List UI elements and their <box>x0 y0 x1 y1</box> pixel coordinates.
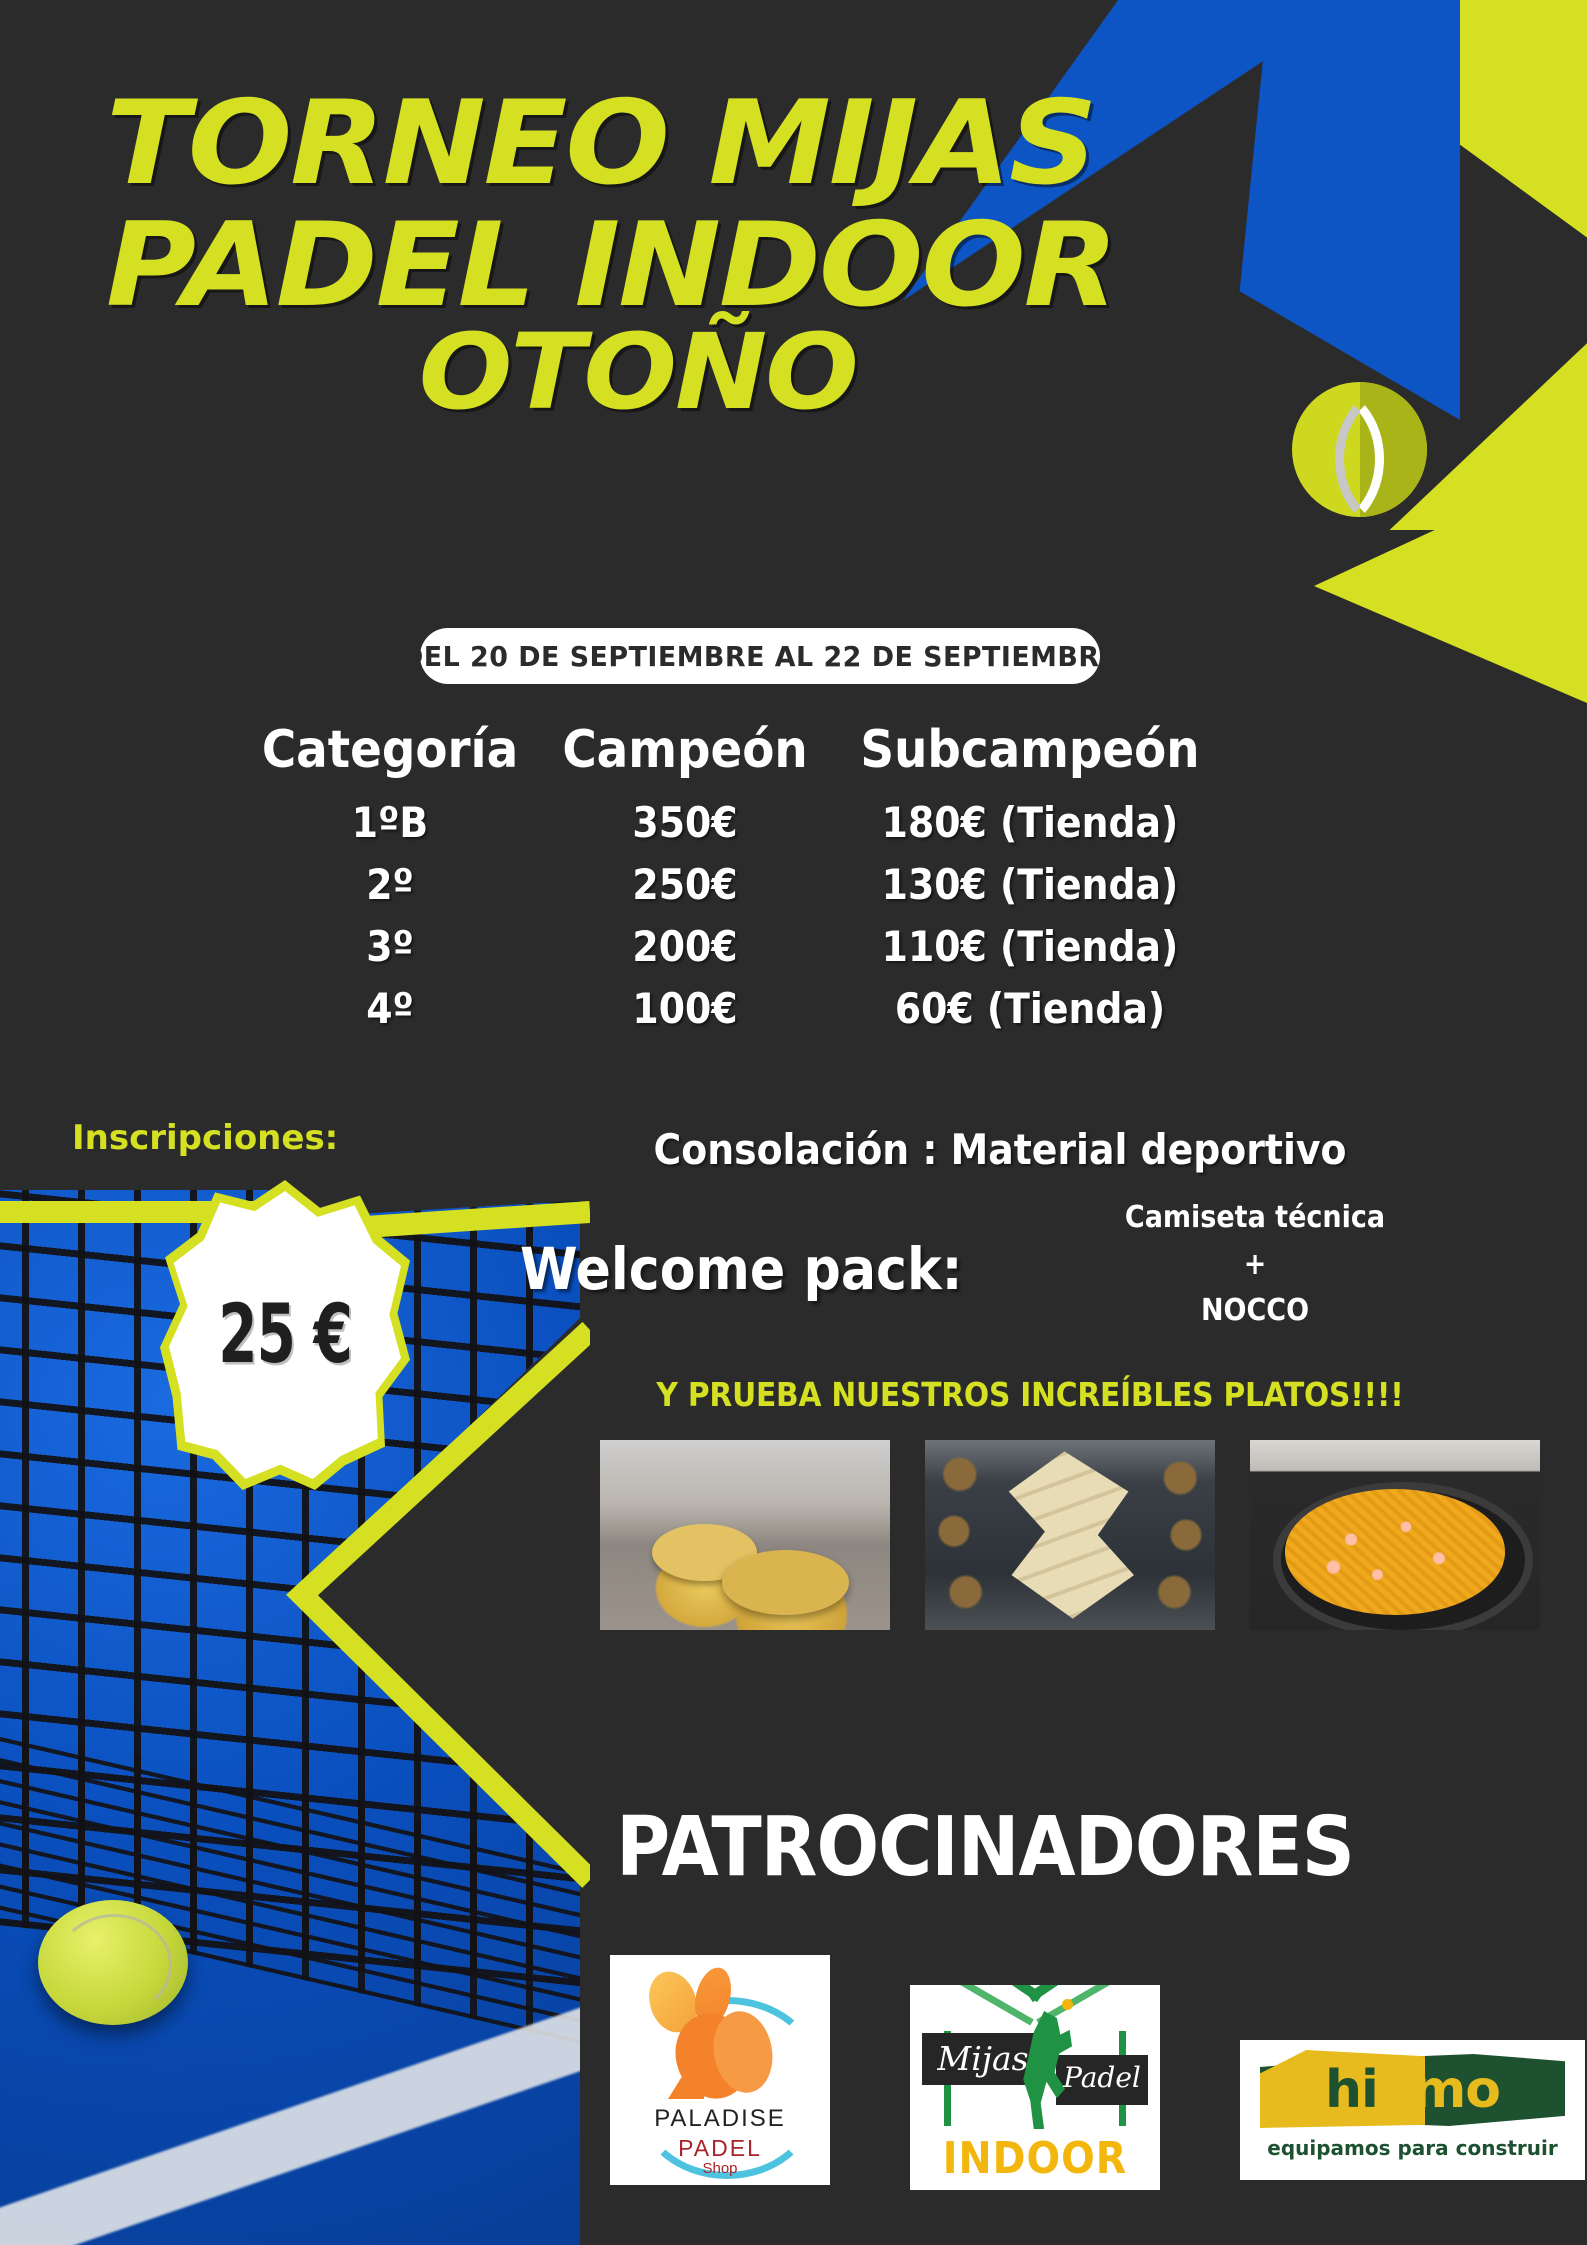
hiemo-part-2: e <box>1378 2060 1412 2120</box>
cell-runnerup: 60€ (Tienda) <box>830 984 1230 1033</box>
cell-category: 4º <box>240 984 540 1033</box>
table-row: 4º 100€ 60€ (Tienda) <box>240 984 1360 1033</box>
cell-category: 2º <box>240 860 540 909</box>
food-headline: Y PRUEBA NUESTROS INCREÍBLES PLATOS!!!! <box>520 1375 1540 1414</box>
indoor-word: INDOOR <box>910 2133 1160 2184</box>
consolation-text: Consolación : Material deportivo <box>520 1125 1480 1174</box>
paella-photo <box>1250 1440 1540 1630</box>
title-line-1: TORNEO MIJAS <box>0 90 1399 198</box>
paladise-shop: Shop <box>610 2160 830 2177</box>
prize-table: Categoría Campeón Subcampeón 1ºB 350€ 18… <box>240 720 1360 1046</box>
cell-runnerup: 110€ (Tienda) <box>830 922 1230 971</box>
tortilla-photo <box>600 1440 890 1630</box>
sponsors-title: PATROCINADORES <box>480 1800 1490 1895</box>
mijas-word: Mijas <box>928 2039 1038 2078</box>
registration-price: 25 € <box>218 1288 352 1383</box>
cell-runnerup: 130€ (Tienda) <box>830 860 1230 909</box>
date-banner: DEL 20 DE SEPTIEMBRE AL 22 DE SEPTIEMBRE <box>420 628 1100 684</box>
welcome-pack-label: Welcome pack: <box>520 1235 963 1303</box>
logo-ball-icon <box>1062 1999 1073 2010</box>
page-title: TORNEO MIJAS PADEL INDOOR OTOÑO <box>0 90 1320 420</box>
column-header-subcampeon: Subcampeón <box>830 720 1230 780</box>
welcome-pack-item-1: Camiseta técnica <box>1055 1195 1455 1242</box>
table-header-row: Categoría Campeón Subcampeón <box>240 720 1360 780</box>
registration-price-badge: 25 € <box>160 1180 410 1490</box>
paladise-name: PALADISE <box>610 2105 830 2133</box>
cell-category: 3º <box>240 922 540 971</box>
welcome-pack-contents: Camiseta técnica + NOCCO <box>1055 1195 1455 1335</box>
table-row: 1ºB 350€ 180€ (Tienda) <box>240 798 1360 847</box>
cell-category: 1ºB <box>240 798 540 847</box>
date-banner-text: DEL 20 DE SEPTIEMBRE AL 22 DE SEPTIEMBRE <box>401 640 1118 673</box>
cell-champion: 100€ <box>540 984 830 1033</box>
table-row: 2º 250€ 130€ (Tienda) <box>240 860 1360 909</box>
title-line-2: PADEL INDOOR <box>0 212 1399 320</box>
welcome-pack-plus: + <box>1055 1242 1455 1289</box>
column-header-campeon: Campeón <box>540 720 830 780</box>
hiemo-part-3: mo <box>1412 2060 1500 2120</box>
title-line-3: OTOÑO <box>0 324 1399 421</box>
cheese-platter-photo <box>925 1440 1215 1630</box>
tournament-poster: TORNEO MIJAS PADEL INDOOR OTOÑO DEL 20 D… <box>0 0 1587 2245</box>
mijas-padel-indoor-logo[interactable]: Mijas Padel INDOOR <box>910 1985 1160 2190</box>
padel-word: Padel <box>1058 2061 1146 2094</box>
court-tennis-ball <box>38 1900 188 2025</box>
cell-runnerup: 180€ (Tienda) <box>830 798 1230 847</box>
cell-champion: 200€ <box>540 922 830 971</box>
hiemo-logo[interactable]: hiemo equipamos para construir <box>1240 2040 1585 2180</box>
welcome-pack-item-2: NOCCO <box>1055 1288 1455 1335</box>
hiemo-part-1: hi <box>1325 2060 1378 2120</box>
cell-champion: 250€ <box>540 860 830 909</box>
food-photo-gallery <box>600 1440 1540 1640</box>
hiemo-wordmark: hiemo <box>1260 2054 1565 2126</box>
table-row: 3º 200€ 110€ (Tienda) <box>240 922 1360 971</box>
sponsor-logos: PALADISE PADEL Shop Mijas Padel INDOOR <box>600 1950 1587 2200</box>
cell-champion: 350€ <box>540 798 830 847</box>
paladise-padel: PADEL <box>610 2135 830 2162</box>
column-header-categoria: Categoría <box>240 720 540 780</box>
hiemo-tagline: equipamos para construir <box>1240 2136 1585 2160</box>
registration-label: Inscripciones: <box>72 1118 338 1158</box>
paladise-padel-shop-logo[interactable]: PALADISE PADEL Shop <box>610 1955 830 2185</box>
